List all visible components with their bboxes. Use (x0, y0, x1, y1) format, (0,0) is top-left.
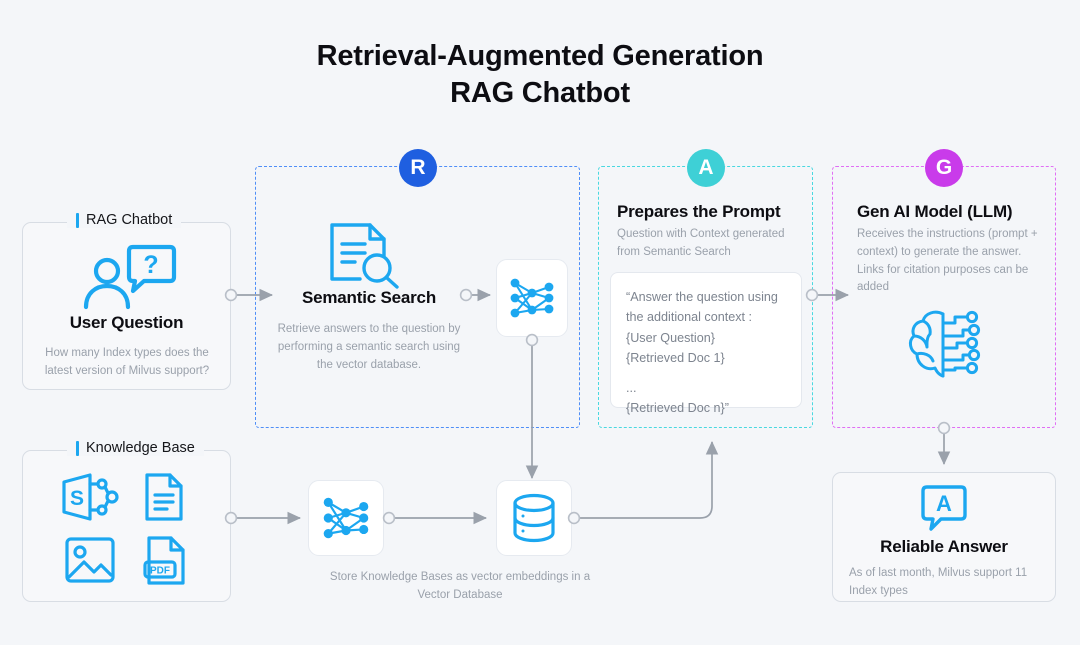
port-search-out (461, 290, 472, 301)
badge-generation: G (925, 149, 963, 187)
port-embed-bottom-out (384, 513, 395, 524)
port-embed-down (527, 335, 538, 346)
badge-retrieval: R (399, 149, 437, 187)
wire-db-to-prompt (578, 442, 712, 518)
port-kb-out (226, 513, 237, 524)
port-db-out (569, 513, 580, 524)
port-llm-out (939, 423, 950, 434)
port-question-out (226, 290, 237, 301)
diagram-canvas: Retrieval-Augmented Generation RAG Chatb… (0, 0, 1080, 645)
port-prompt-out (807, 290, 818, 301)
badge-augmentation: A (687, 149, 725, 187)
connector-layer (0, 0, 1080, 645)
